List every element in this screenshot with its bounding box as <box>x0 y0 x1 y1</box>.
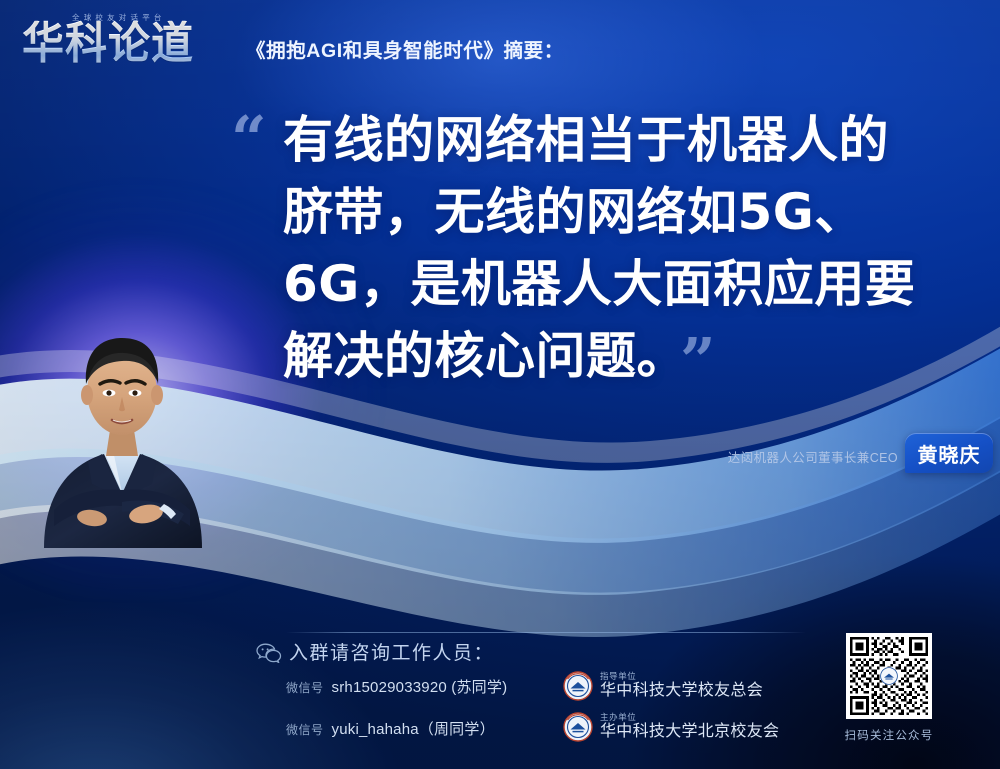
wechat-icon <box>256 643 282 663</box>
contact-label: 微信号 <box>286 679 324 696</box>
attribution: 达闼机器人公司董事长兼CEO 黄晓庆 <box>728 447 916 466</box>
quote-close-mark: ” <box>680 330 716 392</box>
quote-line: 解决的核心问题。 <box>283 320 963 392</box>
speaker-portrait <box>18 288 223 548</box>
organization-row: 主办单位 华中科技大学北京校友会 <box>563 712 779 742</box>
qr-code[interactable] <box>846 633 932 719</box>
contact-row[interactable]: 微信号 srh15029033920 (苏同学) <box>286 676 507 697</box>
contact-label: 微信号 <box>286 721 324 738</box>
quote-open-mark: “ <box>231 108 267 170</box>
quote-line: 有线的网络相当于机器人的 <box>283 104 963 176</box>
qr-section: 扫码关注公众号 <box>836 633 942 743</box>
contact-row[interactable]: 微信号 yuki_hahaha（周同学） <box>286 718 495 739</box>
university-seal-icon <box>563 671 593 701</box>
qr-caption: 扫码关注公众号 <box>836 727 942 743</box>
organization-name: 华中科技大学校友总会 <box>600 683 763 700</box>
quote-text-block: 有线的网络相当于机器人的 脐带，无线的网络如5G、 6G，是机器人大面积应用要 … <box>283 104 963 392</box>
organization-row: 指导单位 华中科技大学校友总会 <box>563 671 763 701</box>
organization-text: 指导单位 华中科技大学校友总会 <box>600 672 763 700</box>
poster-canvas: 全球校友对话平台 华科论道 《拥抱AGI和具身智能时代》摘要： “ 有线的网络相… <box>0 0 1000 769</box>
contact-value: yuki_hahaha（周同学） <box>332 718 495 739</box>
organization-text: 主办单位 华中科技大学北京校友会 <box>600 713 779 741</box>
page-title: 《拥抱AGI和具身智能时代》摘要： <box>246 34 564 63</box>
organization-kind: 指导单位 <box>600 672 763 681</box>
qr-center-seal-icon <box>880 667 898 685</box>
organization-kind: 主办单位 <box>600 713 779 722</box>
contact-value: srh15029033920 (苏同学) <box>332 676 508 697</box>
quote-line: 6G，是机器人大面积应用要 <box>283 248 963 320</box>
logo-wordmark: 华科论道 <box>22 21 194 66</box>
university-seal-icon <box>563 712 593 742</box>
speaker-name: 黄晓庆 <box>918 439 981 468</box>
footer-divider <box>286 632 806 633</box>
header-bar: 全球校友对话平台 华科论道 《拥抱AGI和具身智能时代》摘要： <box>0 0 1000 88</box>
organization-name: 华中科技大学北京校友会 <box>600 724 779 741</box>
speaker-role: 达闼机器人公司董事长兼CEO <box>728 447 898 466</box>
footer-heading: 入群请咨询工作人员： <box>289 638 494 665</box>
brand-logo[interactable]: 全球校友对话平台 华科论道 <box>22 14 222 74</box>
speaker-name-badge: 黄晓庆 <box>905 433 993 473</box>
quote-line: 脐带，无线的网络如5G、 <box>283 176 963 248</box>
